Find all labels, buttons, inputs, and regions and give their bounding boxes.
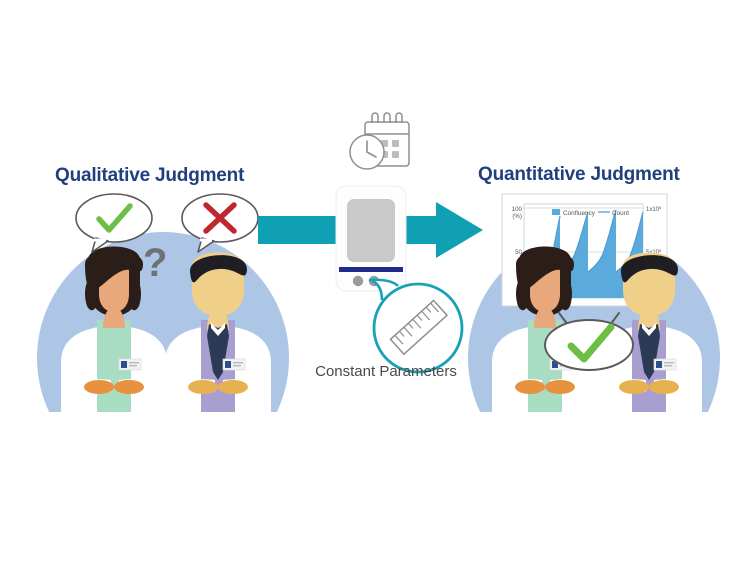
bottom-white-mask (0, 412, 750, 563)
speech-bubble-check (74, 192, 154, 254)
calendar-clock-icon (345, 114, 417, 176)
chart-legend: Confluency Count (552, 209, 629, 217)
result-bubble-check (541, 305, 637, 375)
speech-bubble-cross (180, 192, 260, 254)
left-panel-title: Qualitative Judgment (55, 165, 244, 187)
ruler-callout-bubble (368, 276, 468, 376)
legend-label-count: Count (612, 210, 629, 217)
infographic-canvas: Qualitative Judgment (0, 0, 750, 563)
constant-parameters-label: Constant Parameters (296, 363, 476, 380)
question-mark-symbol: ? (143, 243, 167, 283)
chart-left-tick-100: 100 (512, 206, 523, 213)
chart-left-axis-unit: (%) (512, 213, 522, 220)
right-panel-title: Quantitative Judgment (478, 164, 680, 186)
legend-label-confluency: Confluency (563, 210, 596, 217)
male-scientist-left (165, 253, 271, 415)
